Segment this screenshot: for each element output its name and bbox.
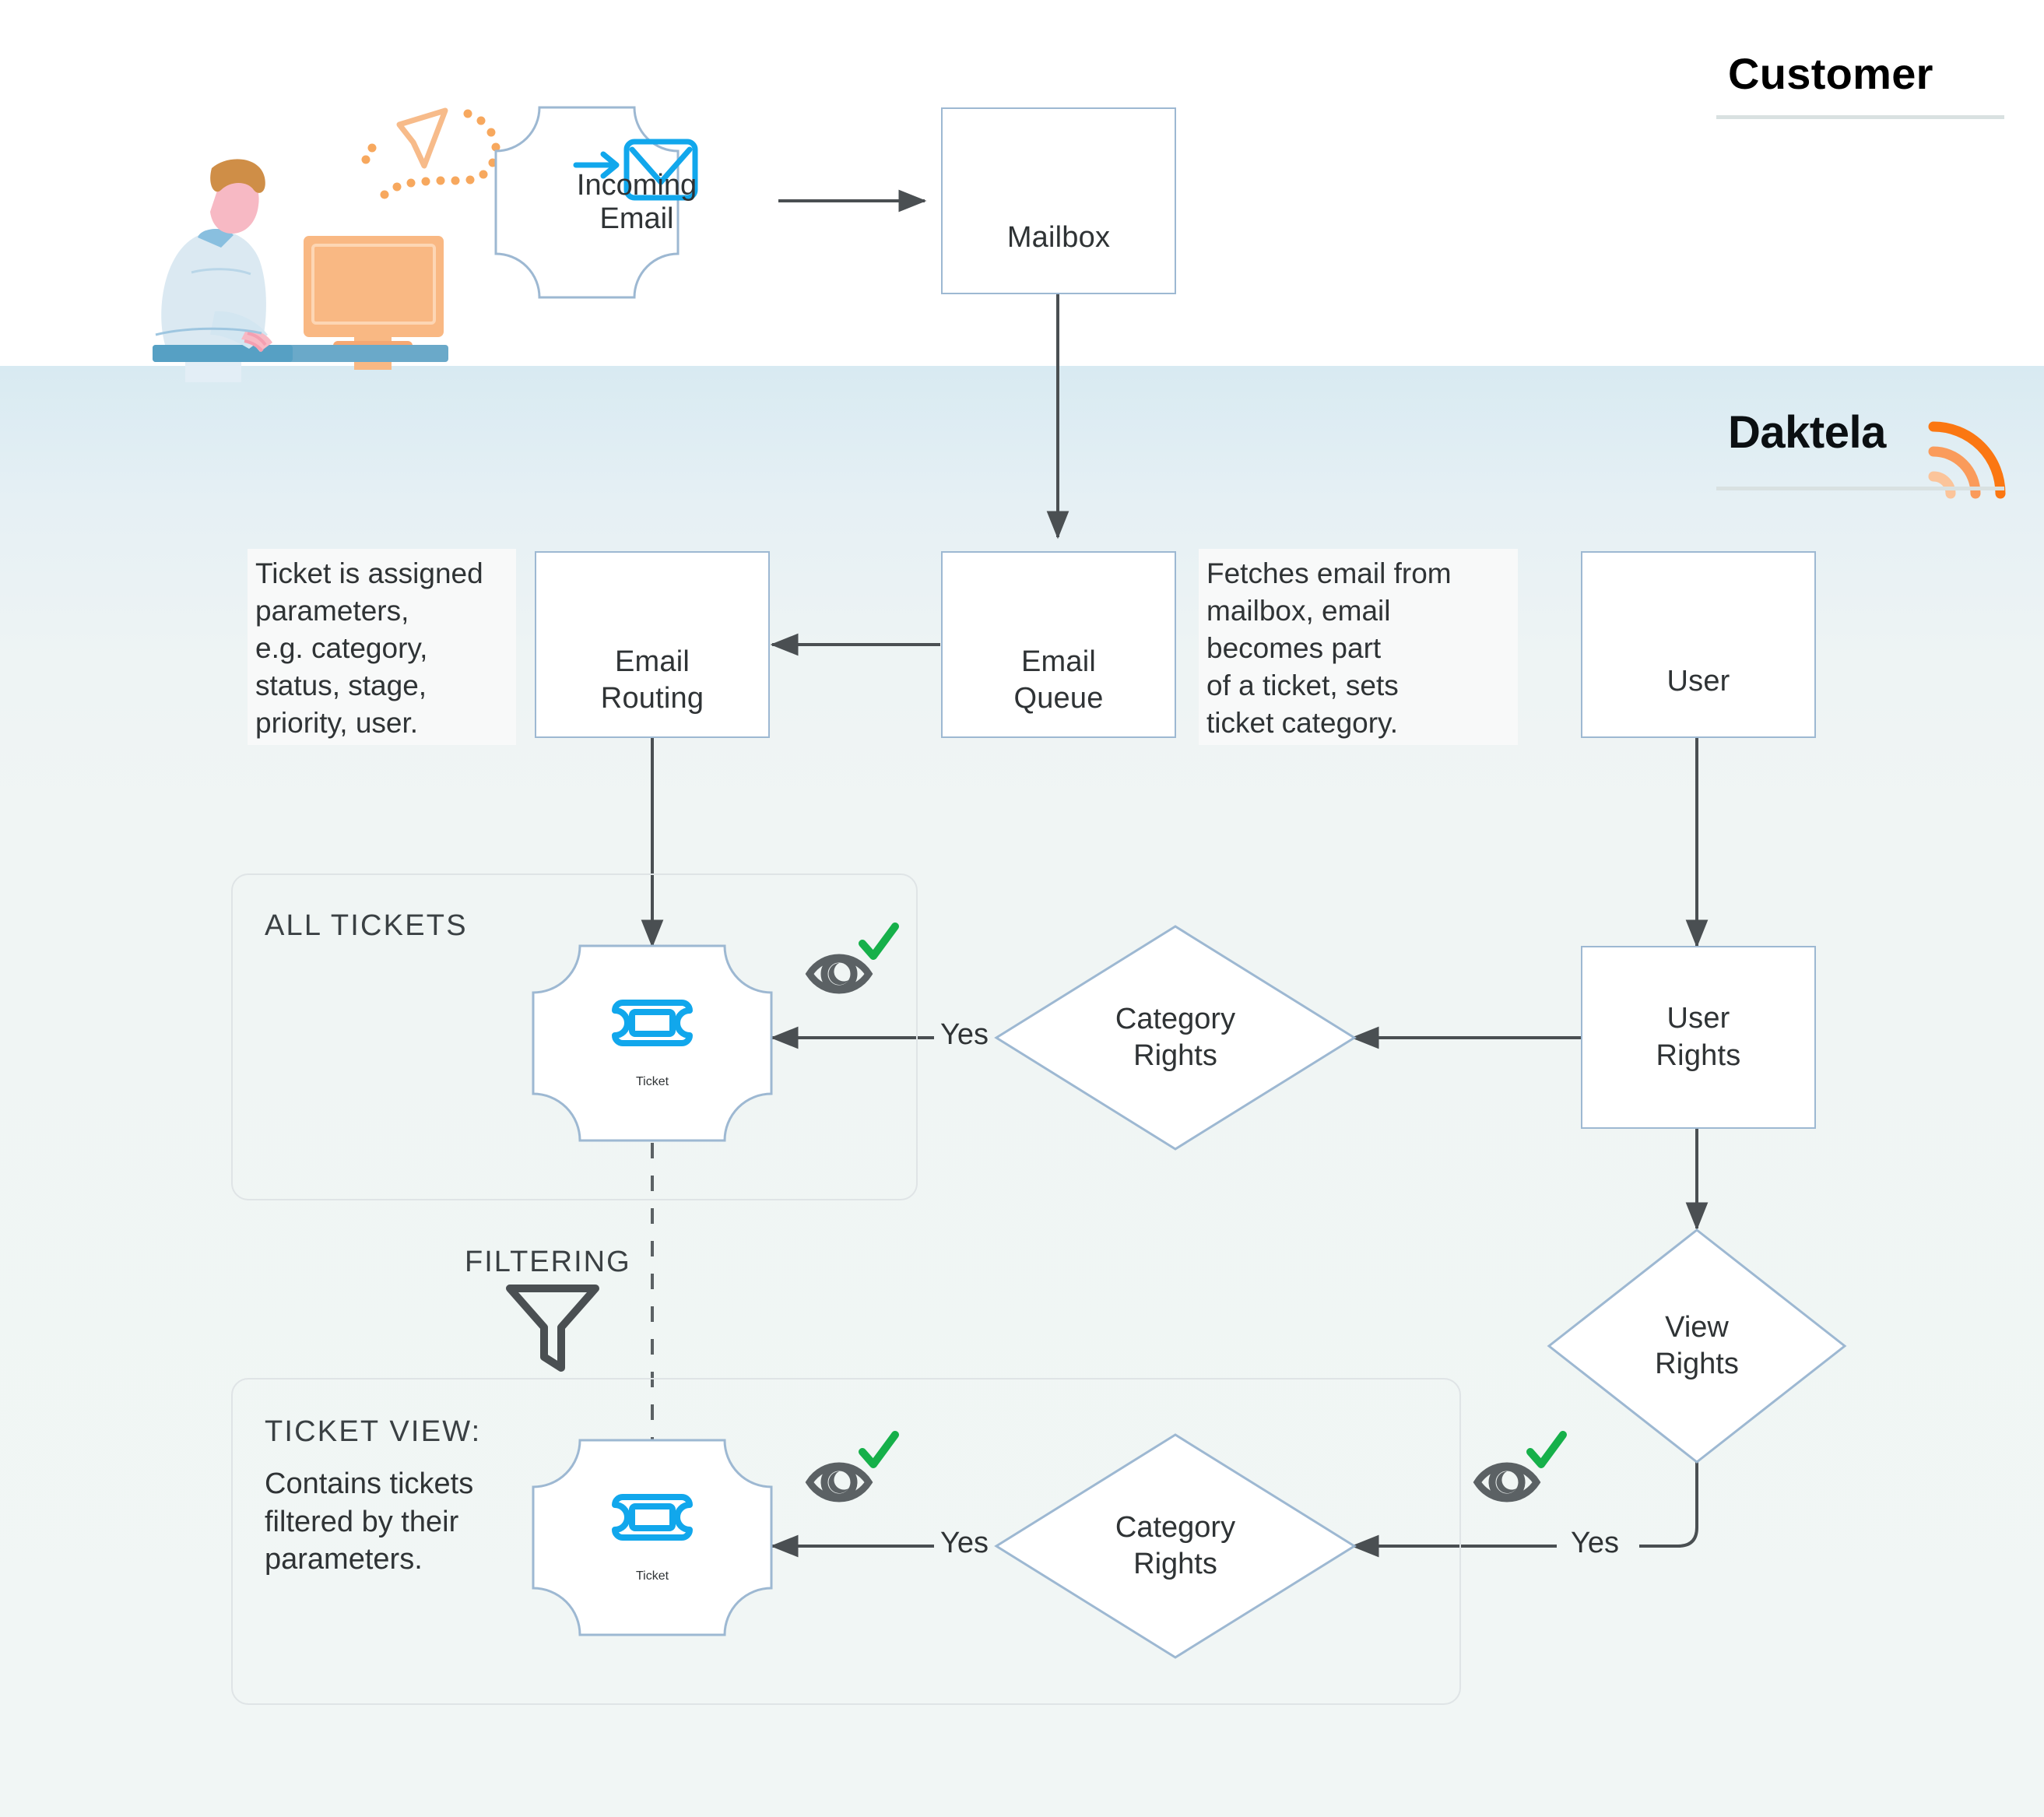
- note-line: Ticket is assigned: [255, 555, 508, 592]
- brand-logo: Daktela: [1728, 406, 1886, 459]
- node-incoming-email[interactable]: Incoming Email: [539, 151, 734, 254]
- note-line: e.g. category,: [255, 630, 508, 667]
- node-label: Mailbox: [1007, 220, 1110, 256]
- signal-arcs-icon: [1933, 427, 2000, 494]
- node-label: Incoming: [577, 169, 697, 202]
- diagram-canvas: Customer Daktela Incoming Email Mailbox …: [0, 0, 2044, 1817]
- page-title: Customer: [1728, 48, 1933, 99]
- brand-name: Daktela: [1728, 406, 1886, 459]
- node-category-rights-top[interactable]: Category Rights: [996, 926, 1354, 1149]
- note-line: priority, user.: [255, 705, 508, 742]
- node-label: Category Rights: [1115, 1509, 1235, 1583]
- eye-icon: [1477, 1466, 1537, 1499]
- group-ticket-view-title: TICKET VIEW:: [265, 1415, 481, 1449]
- node-label: Queue: [1013, 680, 1103, 717]
- group-subtitle-line: filtered by their: [265, 1503, 537, 1541]
- node-label: Email: [599, 202, 673, 236]
- note-line: Fetches email from: [1206, 555, 1510, 592]
- edge-label-yes-bottom-right: Yes: [1571, 1527, 1619, 1560]
- brand-rule: [1716, 487, 2004, 490]
- page-title-rule: [1716, 115, 2004, 119]
- note-queue: Fetches email from mailbox, email become…: [1199, 549, 1518, 745]
- note-line: parameters,: [255, 592, 508, 630]
- node-email-routing[interactable]: Email Routing: [535, 551, 770, 738]
- group-all-tickets-title: ALL TICKETS: [265, 909, 468, 943]
- group-subtitle-line: parameters.: [265, 1541, 537, 1579]
- node-mailbox[interactable]: Mailbox: [941, 107, 1176, 294]
- edge-viewrights-elbow: [1639, 1462, 1697, 1546]
- edge-label-yes-bottom-left: Yes: [940, 1527, 989, 1560]
- node-user-rights[interactable]: User Rights: [1581, 946, 1816, 1129]
- edge-label-yes-top: Yes: [940, 1018, 989, 1052]
- node-label: Rights: [1656, 1038, 1741, 1074]
- note-routing: Ticket is assigned parameters, e.g. cate…: [248, 549, 516, 745]
- group-subtitle-line: Contains tickets: [265, 1465, 537, 1503]
- node-label: Category Rights: [1115, 1001, 1235, 1074]
- funnel-icon: [510, 1288, 595, 1368]
- filtering-label: FILTERING: [465, 1246, 631, 1279]
- node-label: User: [1666, 1000, 1730, 1037]
- note-line: ticket category.: [1206, 705, 1510, 742]
- node-label: View Rights: [1655, 1309, 1739, 1383]
- node-view-rights[interactable]: View Rights: [1549, 1230, 1845, 1462]
- person-at-desk-illustration: [153, 110, 500, 383]
- node-label: Ticket: [636, 1075, 669, 1089]
- node-label: Email: [1021, 644, 1096, 680]
- node-label: Routing: [601, 680, 704, 717]
- node-label: Ticket: [636, 1569, 669, 1583]
- node-email-queue[interactable]: Email Queue: [941, 551, 1176, 738]
- node-user[interactable]: User: [1581, 551, 1816, 738]
- node-label: Email: [615, 644, 690, 680]
- group-ticket-view-subtitle: Contains tickets filtered by their param…: [265, 1465, 537, 1579]
- note-line: mailbox, email: [1206, 592, 1510, 630]
- note-line: status, stage,: [255, 667, 508, 705]
- note-line: becomes part: [1206, 630, 1510, 667]
- node-label: User: [1666, 663, 1730, 700]
- note-line: of a ticket, sets: [1206, 667, 1510, 705]
